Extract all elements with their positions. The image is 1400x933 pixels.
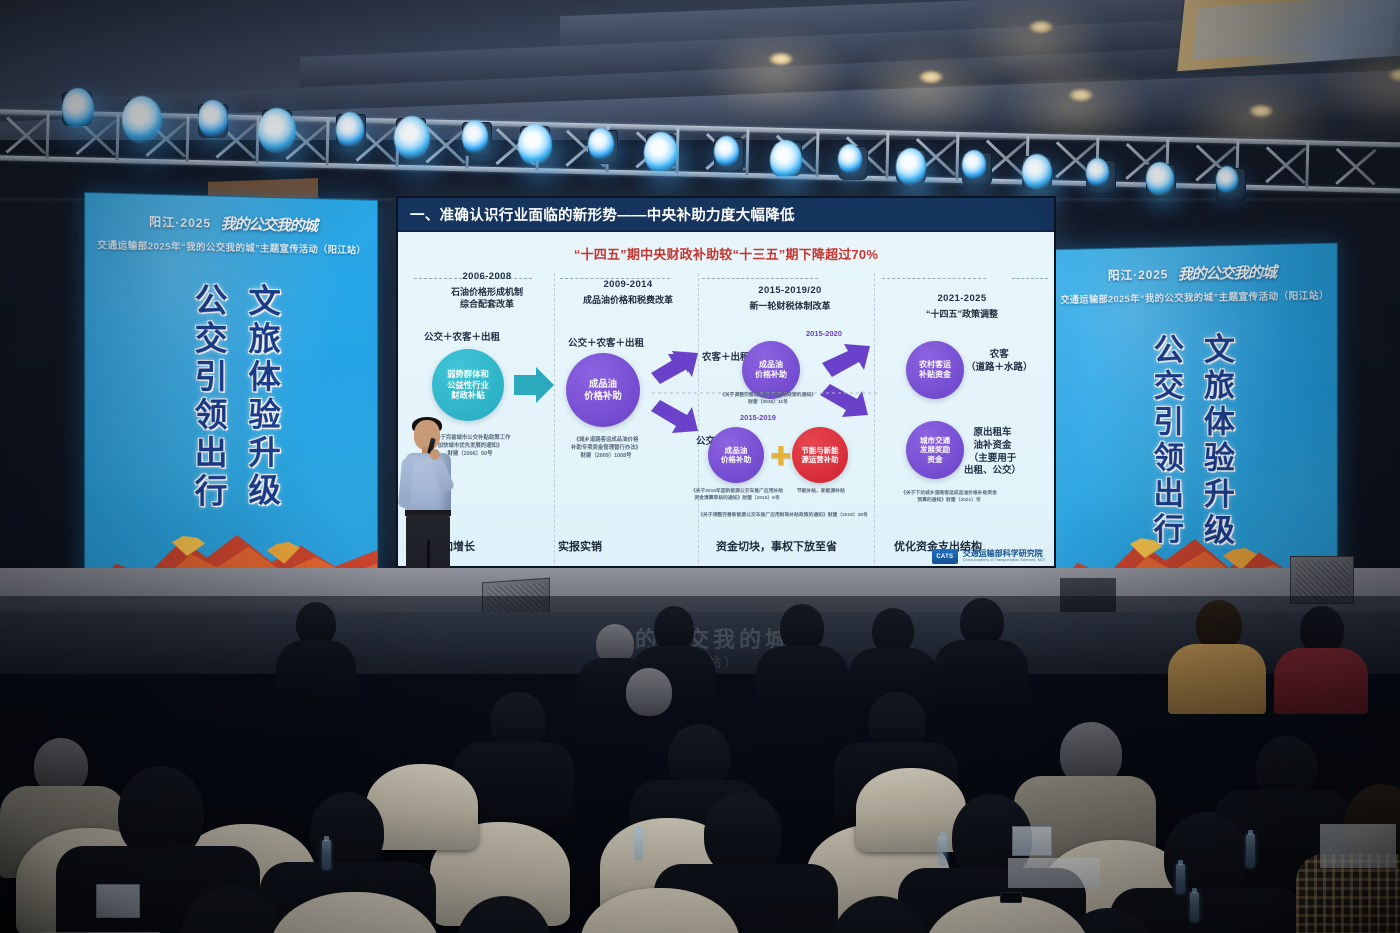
node-fuel-subsidy-upper: 成品油 价格补助 <box>742 341 800 399</box>
ceiling-downlight-icon <box>918 70 944 84</box>
audience-body <box>1274 648 1368 714</box>
timeline-connector <box>882 278 986 279</box>
cats-badge-icon: CATS <box>932 549 958 564</box>
banner-vertical-slogans: 公交引领出行 文旅体验升级 <box>1051 331 1337 551</box>
banner-header: 阳江·2025 我的公交我的城 交通运输部2025年“我的公交我的城”主题宣传活… <box>85 193 377 258</box>
spotlight-lamp-icon <box>644 132 678 174</box>
spotlight-lamp-icon <box>714 136 739 167</box>
lane-label-5: 农客 （道路＋水路） <box>966 349 1033 375</box>
banner-event-line: 阳江·2025 <box>149 213 211 232</box>
summary-item-2: 实报实销 <box>558 538 602 554</box>
lane-label-1: 公交＋农客＋出租 <box>424 329 500 343</box>
spotlight-lamp-icon <box>198 100 228 138</box>
truss-post <box>1305 142 1309 188</box>
water-bottle <box>322 840 331 870</box>
policy-note-7: 《关于调整完善新能源公交车推广应用财政补贴政策的通知》财建〔2019〕38号 <box>658 513 908 520</box>
timeline-period-1: 2006-2008 石油价格形成机制 综合配套改革 <box>422 271 552 310</box>
water-bottle <box>1176 864 1185 894</box>
institute-logo: CATS 交通运输部科学研究院 China Academy of Transpo… <box>932 549 1046 564</box>
policy-note-2: 《城乡道路客运成品油价格 补助专项资金管理暂行办法》 财建〔2009〕1008号 <box>554 437 658 460</box>
banner-header: 阳江·2025 我的公交我的城 交通运输部2025年“我的公交我的城”主题宣传活… <box>1051 244 1337 308</box>
slide-body: “十四五”期中央财政补助较“十三五”期下降超过70% 2006-2008 石油价… <box>398 232 1054 568</box>
timeline-period-2: 2009-2014 成品油价格和税费改革 <box>562 279 694 306</box>
ceiling-downlight-icon <box>1028 20 1054 34</box>
led-banner-right: 阳江·2025 我的公交我的城 交通运输部2025年“我的公交我的城”主题宣传活… <box>1050 242 1338 601</box>
year-tag-upper: 2015-2020 <box>806 329 842 338</box>
spotlight-lamp-icon <box>1022 154 1052 190</box>
spotlight-lamp-icon <box>394 116 430 160</box>
spotlight-lamp-icon <box>838 144 862 174</box>
handout-papers <box>1008 858 1100 888</box>
slide-title: 一、准确认识行业面临的新形势——中央补助力度大幅降低 <box>398 198 1054 232</box>
spotlight-lamp-icon <box>1216 166 1238 194</box>
slide-subtitle: “十四五”期中央财政补助较“十三五”期下降超过70% <box>408 244 1044 263</box>
timeline-years: 2006-2008 <box>422 271 552 282</box>
timeline-header: 2006-2008 石油价格形成机制 综合配套改革 2009-2014 成品油价… <box>412 271 1040 327</box>
timeline-desc: 新一轮财税体制改革 <box>712 300 868 312</box>
timeline-period-4: 2021-2025 “十四五”政策调整 <box>892 293 1032 320</box>
timeline-period-3: 2015-2019/20 新一轮财税体制改革 <box>712 285 868 312</box>
water-bottle <box>634 830 643 860</box>
node-urban-transport-fund: 城市交通 发展奖励 资金 <box>906 421 964 479</box>
banner-slogan-right: 文旅体验升级 <box>237 283 284 511</box>
plus-icon: ✚ <box>770 443 792 469</box>
policy-note-4: 《关于2015年度新能源公交车推广应用补助 资金清算审核的通知》财建〔2015〕… <box>690 489 784 503</box>
truss-brace <box>1259 141 1306 188</box>
spotlight-lamp-icon <box>518 124 552 166</box>
conference-stage-photo: 阳江·2025 我的公交我的城 交通运输部2025年“我的公交我的城”主题宣传活… <box>0 0 1400 933</box>
ceiling-downlight-icon <box>1248 104 1274 118</box>
water-bottle <box>1246 834 1255 868</box>
policy-note-3: 《关于调整完善成品油价格补助政策的通知》 财建〔2015〕11号 <box>660 393 876 407</box>
ceiling-downlight-icon <box>1068 88 1094 102</box>
banner-subtitle: 交通运输部2025年“我的公交我的城”主题宣传活动（阳江站） <box>85 240 377 258</box>
truss-brace <box>1329 143 1376 190</box>
timeline-desc: “十四五”政策调整 <box>892 308 1032 320</box>
audience-head <box>780 604 824 652</box>
audience-area <box>0 596 1400 933</box>
ceiling-downlight-icon <box>768 52 794 66</box>
timeline-years: 2021-2025 <box>892 293 1032 304</box>
policy-note-5: 节能补贴、新能源补贴 <box>788 489 854 496</box>
node-new-energy-subsidy: 节能与新能 源运营补助 <box>792 427 848 483</box>
name-tent-card <box>1012 826 1052 856</box>
node-rural-transport-fund: 农村客运 补贴资金 <box>906 341 964 399</box>
water-bottle <box>938 836 947 866</box>
banner-event-line: 阳江·2025 <box>1108 265 1168 283</box>
node-welfare-subsidy: 弱势群体和 公益性行业 财政补贴 <box>432 349 504 421</box>
banner-event-mark: 我的公交我的城 <box>221 213 317 236</box>
audience-body <box>276 640 356 700</box>
subsidy-flow-diagram: 公交＋农客＋出租 公交＋农客＋出租 农客＋出租 公交 农客 （道路＋水路） 原出… <box>408 327 1044 555</box>
summary-item-3: 资金切块，事权下放至省 <box>716 538 837 554</box>
timeline-connector <box>1012 278 1048 279</box>
timeline-years: 2009-2014 <box>562 279 694 290</box>
audience-head <box>960 598 1004 646</box>
node-fuel-subsidy-main: 成品油 价格补助 <box>566 353 640 427</box>
audience-head <box>1196 600 1242 650</box>
lane-label-6: 原出租车 油补资金 （主要用于 出租、公交） <box>964 427 1021 478</box>
spotlight-lamp-icon <box>336 112 364 148</box>
spotlight-lamp-icon <box>62 88 94 130</box>
spotlight-lamp-icon <box>462 120 488 154</box>
node-fuel-subsidy-lower: 成品油 价格补助 <box>708 427 764 483</box>
spotlight-lamp-icon <box>588 128 614 160</box>
banner-slogan-right: 文旅体验升级 <box>1194 332 1239 549</box>
banner-event-mark: 我的公交我的城 <box>1178 261 1276 284</box>
truss-brace <box>0 111 47 158</box>
institute-name-en: China Academy of Transportation Sciences… <box>963 559 1046 563</box>
spotlight-lamp-icon <box>962 150 986 180</box>
water-bottle <box>1190 892 1199 922</box>
presenter-head <box>414 420 440 450</box>
audience-head <box>1300 606 1344 654</box>
banner-subtitle: 交通运输部2025年“我的公交我的城”主题宣传活动（阳江站） <box>1051 290 1337 307</box>
timeline-years: 2015-2019/20 <box>712 285 868 296</box>
banner-slogan-left: 公交引领出行 <box>183 282 231 512</box>
audience-body <box>934 640 1028 706</box>
spotlight-lamp-icon <box>122 96 162 144</box>
spotlight-lamp-icon <box>896 148 926 186</box>
banner-slogan-left: 公交引领出行 <box>1144 333 1188 549</box>
name-tent-card <box>96 884 140 918</box>
institute-name: 交通运输部科学研究院 China Academy of Transportati… <box>963 550 1046 563</box>
year-tag-lower: 2015-2019 <box>740 413 776 422</box>
smartphone <box>1000 892 1022 903</box>
audience-body <box>756 646 848 712</box>
led-banner-left: 阳江·2025 我的公交我的城 交通运输部2025年“我的公交我的城”主题宣传活… <box>84 192 378 596</box>
banner-vertical-slogans: 公交引领出行 文旅体验升级 <box>85 281 377 514</box>
policy-note-6: 《关于下达城乡道路客运成品油价格补助资金 预算的通知》财建〔2021〕号 <box>886 491 1012 505</box>
spotlight-lamp-icon <box>770 140 802 180</box>
timeline-desc: 成品油价格和税费改革 <box>562 294 694 306</box>
lane-label-2: 公交＋农客＋出租 <box>568 335 644 349</box>
presentation-screen: 一、准确认识行业面临的新形势——中央补助力度大幅降低 “十四五”期中央财政补助较… <box>396 196 1056 568</box>
timeline-connector <box>702 278 818 279</box>
presenter-hand <box>430 449 440 460</box>
downlight-glow <box>700 26 850 122</box>
audience-head <box>626 668 672 716</box>
handout-papers <box>1320 824 1396 868</box>
chair <box>856 768 966 852</box>
spotlight-lamp-icon <box>1086 158 1109 187</box>
spotlight-lamp-icon <box>1146 162 1174 196</box>
timeline-desc: 石油价格形成机制 综合配套改革 <box>422 286 552 310</box>
audience-body <box>1168 644 1266 714</box>
spotlight-lamp-icon <box>258 108 296 154</box>
